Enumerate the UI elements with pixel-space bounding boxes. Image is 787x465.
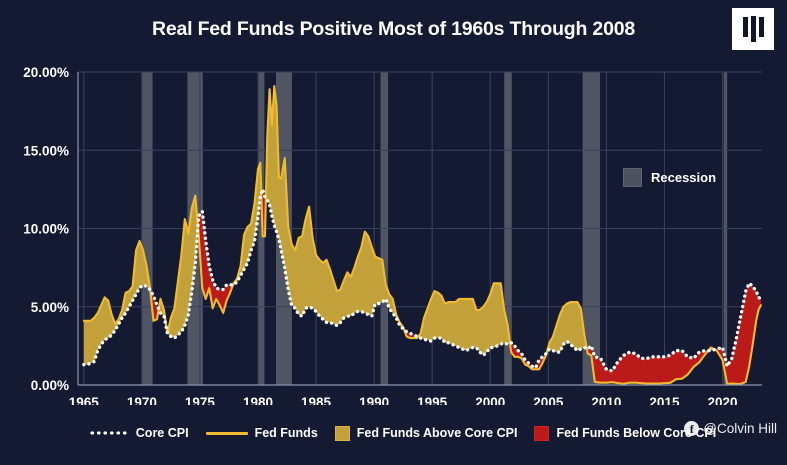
x-tick-label: 1985: [301, 395, 332, 405]
y-tick-label: 15.00%: [23, 143, 69, 158]
logo-bar-right: [759, 17, 764, 37]
x-tick-label: 1970: [127, 395, 157, 405]
y-tick-label: 0.00%: [31, 378, 69, 393]
x-tick-label: 2005: [533, 395, 564, 405]
y-axis-tick-labels: 0.00%5.00%10.00%15.00%20.00%: [23, 65, 69, 393]
x-tick-label: 2020: [707, 395, 737, 405]
x-tick-label: 2000: [475, 395, 505, 405]
chart-plot-area: 0.00%5.00%10.00%15.00%20.00% 19651970197…: [0, 60, 787, 405]
watermark: f @Colvin Hill: [684, 421, 777, 436]
recession-swatch: [623, 168, 642, 187]
recession-legend: Recession: [623, 168, 716, 187]
chart-svg: 0.00%5.00%10.00%15.00%20.00% 19651970197…: [0, 60, 787, 405]
x-tick-label: 1980: [243, 395, 273, 405]
legend-label-core-cpi: Core CPI: [136, 426, 189, 440]
legend-item-fed-funds: Fed Funds: [206, 426, 318, 440]
legend-label-fed-funds: Fed Funds: [255, 426, 318, 440]
logo-bar-left: [743, 17, 748, 37]
dotted-line-icon: [89, 431, 129, 435]
x-tick-label: 1965: [69, 395, 100, 405]
y-tick-label: 5.00%: [31, 300, 69, 315]
watermark-handle: @Colvin Hill: [703, 421, 777, 436]
legend-item-above-cpi: Fed Funds Above Core CPI: [335, 426, 518, 441]
area-fed-funds-above-cpi: [84, 241, 150, 365]
x-tick-label: 1990: [359, 395, 389, 405]
gold-swatch-icon: [335, 426, 350, 441]
chart-header: Real Fed Funds Positive Most of 1960s Th…: [0, 0, 787, 62]
x-tick-label: 2010: [591, 395, 621, 405]
red-swatch-icon: [534, 426, 549, 441]
legend-item-core-cpi: Core CPI: [89, 426, 189, 440]
legend-label-above-cpi: Fed Funds Above Core CPI: [357, 426, 518, 440]
x-tick-label: 1975: [185, 395, 216, 405]
recession-legend-label: Recession: [651, 170, 716, 185]
y-tick-label: 20.00%: [23, 65, 69, 80]
y-tick-label: 10.00%: [23, 222, 69, 237]
page-title: Real Fed Funds Positive Most of 1960s Th…: [0, 18, 787, 41]
chart-screenshot: Real Fed Funds Positive Most of 1960s Th…: [0, 0, 787, 465]
x-axis-tick-labels: 1965197019751980198519901995200020052010…: [69, 395, 738, 405]
x-tick-label: 2015: [649, 395, 680, 405]
facebook-icon: f: [684, 421, 699, 436]
logo-bar-center: [751, 16, 756, 42]
solid-line-icon: [206, 432, 248, 435]
chart-legend: Core CPI Fed Funds Fed Funds Above Core …: [0, 418, 787, 448]
colvin-hill-logo-icon: [732, 8, 774, 50]
x-tick-label: 1995: [417, 395, 448, 405]
area-fills: [84, 86, 761, 384]
